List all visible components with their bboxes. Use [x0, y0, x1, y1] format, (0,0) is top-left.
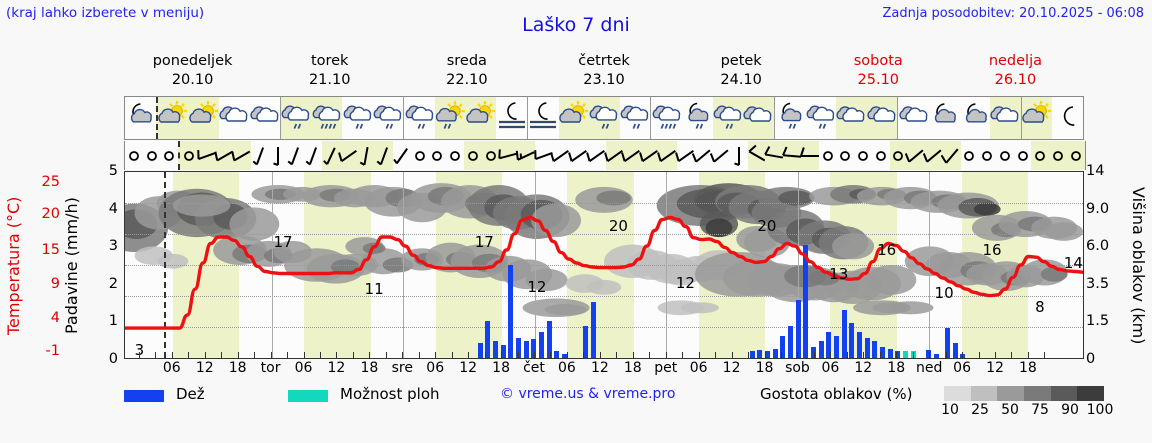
temperature-axis-title: Temperatura (°C) — [4, 176, 30, 356]
x-tickmark — [139, 352, 140, 359]
precip-tick-2: 3 — [109, 238, 118, 254]
weather-icon-cloudy — [219, 97, 250, 139]
x-tick-23: ned — [916, 360, 942, 376]
day-header-1: torek21.10 — [261, 52, 398, 92]
cloud-height-axis-ticks: 149.06.03.51.50 — [1086, 171, 1120, 359]
cloud-density-tick-1: 25 — [971, 402, 989, 418]
x-tickmark — [583, 352, 584, 359]
x-tickmark — [633, 352, 634, 359]
cloud-density-legend-title: Gostota oblakov (%) — [760, 385, 913, 403]
weather-icon-cloudy-light-rain — [342, 97, 373, 139]
cloud-density-swatch-3 — [1024, 386, 1051, 401]
temperature-value-label: 17 — [274, 233, 293, 251]
x-tickmark — [550, 352, 551, 359]
weather-icon-cloudy-light-rain — [403, 97, 435, 139]
weather-icon-cloudy-light-rain — [805, 97, 836, 139]
day-date: 26.10 — [947, 71, 1084, 90]
weather-icon-cloudy-rain — [650, 97, 682, 139]
weather-icon-night-light-rain — [682, 97, 713, 139]
temperature-value-label: 20 — [609, 217, 628, 235]
cloud-tick-0: 14 — [1086, 163, 1104, 179]
x-tickmark — [188, 352, 189, 359]
temp-tick-1: 20 — [42, 206, 60, 222]
x-tickmark — [1028, 352, 1029, 359]
temperature-value-label: 17 — [475, 233, 494, 251]
x-tickmark — [304, 352, 305, 359]
precip-tick-3: 2 — [109, 276, 118, 292]
x-tick-6: 18 — [360, 360, 378, 376]
x-tick-8: 06 — [426, 360, 444, 376]
weather-icon-cloudy — [867, 97, 898, 139]
showers-legend-swatch — [288, 390, 328, 402]
weather-icon-cloudy — [897, 97, 929, 139]
weather-icon-cloudy — [836, 97, 867, 139]
x-tickmark — [452, 352, 453, 359]
x-tickmark — [962, 352, 963, 359]
day-header-3: četrtek23.10 — [535, 52, 672, 92]
x-tickmark — [715, 352, 716, 359]
temperature-value-label: 16 — [877, 241, 896, 259]
x-tickmark — [402, 352, 403, 359]
x-tickmark — [732, 352, 733, 359]
day-name: sreda — [398, 52, 535, 71]
precipitation-axis-ticks: 543210 — [88, 171, 118, 359]
rain-legend-label: Dež — [176, 385, 205, 403]
day-header-5: sobota25.10 — [810, 52, 947, 92]
x-tick-11: čet — [523, 360, 545, 376]
forecast-plot: 31711171220122013161016814 — [124, 171, 1084, 359]
day-name: ponedeljek — [124, 52, 261, 71]
cloud-density-ramp-labels: 1025507590100 — [932, 402, 1122, 418]
x-tick-5: 12 — [328, 360, 346, 376]
weather-icon-cloudy-light-rain — [713, 97, 744, 139]
cloud-density-swatch-2 — [997, 386, 1024, 401]
cloud-density-swatch-0 — [944, 386, 971, 401]
x-tickmark — [320, 352, 321, 359]
x-tick-21: 12 — [854, 360, 872, 376]
x-tickmark — [254, 352, 255, 359]
day-header-0: ponedeljek20.10 — [124, 52, 261, 92]
cloud-tick-2: 6.0 — [1086, 238, 1109, 254]
cloud-tick-3: 3.5 — [1086, 276, 1109, 292]
day-date: 21.10 — [261, 71, 398, 90]
x-tickmark — [814, 352, 815, 359]
weather-icon-cloudy-rain — [312, 97, 343, 139]
day-date: 24.10 — [673, 71, 810, 90]
temperature-axis-ticks: 25201594-1 — [30, 171, 60, 359]
wind-barb-53 — [1067, 141, 1085, 170]
cloud-density-tick-5: 100 — [1087, 402, 1114, 418]
day-name: torek — [261, 52, 398, 71]
day-name: nedelja — [947, 52, 1084, 71]
x-tickmark — [386, 352, 387, 359]
x-tickmark — [830, 352, 831, 359]
x-tickmark — [666, 352, 667, 359]
x-tick-0: 06 — [163, 360, 181, 376]
cloud-density-swatch-1 — [971, 386, 998, 401]
weather-icon-night-light-rain — [774, 97, 806, 139]
x-tick-16: 06 — [690, 360, 708, 376]
weather-icon-cloudy — [743, 97, 774, 139]
x-tickmark — [682, 352, 683, 359]
x-tickmark — [221, 352, 222, 359]
rain-legend-swatch — [124, 390, 164, 402]
weather-icon-sunny-partly-cloudy — [559, 97, 590, 139]
temperature-value-label: 20 — [757, 217, 776, 235]
weather-icon-night-clear — [1052, 97, 1083, 139]
x-tick-19: sob — [785, 360, 810, 376]
weather-icon-sunny-partly-cloudy — [188, 97, 219, 139]
weather-icon-cloudy-light-rain — [373, 97, 404, 139]
x-tick-25: 12 — [986, 360, 1004, 376]
x-tickmark — [765, 352, 766, 359]
x-tickmark — [369, 352, 370, 359]
x-axis-labels: 061218tor061218sre061218čet061218pet0612… — [124, 360, 1084, 382]
x-tickmark — [797, 352, 798, 359]
day-header-4: petek24.10 — [673, 52, 810, 92]
x-tickmark — [435, 352, 436, 359]
wind-barb-2 — [160, 141, 178, 170]
precip-tick-1: 4 — [109, 201, 118, 217]
x-tickmark — [155, 352, 156, 359]
x-tickmark — [847, 352, 848, 359]
x-tick-14: 18 — [624, 360, 642, 376]
x-tickmark — [287, 352, 288, 359]
temp-tick-0: 25 — [42, 174, 60, 190]
x-axis-tickmarks — [124, 352, 1084, 359]
x-tick-12: 06 — [558, 360, 576, 376]
day-name: sobota — [810, 52, 947, 71]
cloud-density-tick-4: 90 — [1061, 402, 1079, 418]
weather-icon-sunny-light-rain — [435, 97, 466, 139]
x-tickmark — [567, 352, 568, 359]
weather-icon-night-fog — [496, 97, 527, 139]
weather-icon-sunny-partly-cloudy — [466, 97, 497, 139]
day-name: petek — [673, 52, 810, 71]
x-tick-17: 12 — [723, 360, 741, 376]
x-tick-3: tor — [261, 360, 281, 376]
x-tickmark — [336, 352, 337, 359]
day-header-2: sreda22.10 — [398, 52, 535, 92]
cloud-density-tick-3: 75 — [1031, 402, 1049, 418]
temperature-value-label: 13 — [829, 265, 848, 283]
temp-tick-5: -1 — [46, 343, 60, 359]
x-tickmark — [172, 352, 173, 359]
weather-icon-cloudy — [249, 97, 280, 139]
precip-tick-0: 5 — [109, 163, 118, 179]
weather-icon-strip — [124, 96, 1084, 140]
x-tickmark — [353, 352, 354, 359]
x-tickmark — [271, 352, 272, 359]
last-update-text: Zadnja posodobitev: 20.10.2025 - 06:08 — [882, 6, 1144, 21]
x-tick-24: 06 — [953, 360, 971, 376]
weather-icon-cloudy-light-rain — [620, 97, 651, 139]
temp-tick-4: 4 — [51, 310, 60, 326]
x-tick-20: 06 — [821, 360, 839, 376]
x-tickmark — [699, 352, 700, 359]
x-tickmark — [880, 352, 881, 359]
temp-tick-3: 9 — [51, 276, 60, 292]
weather-icon-night-cloudy — [125, 97, 156, 139]
x-tick-13: 12 — [591, 360, 609, 376]
temperature-value-label: 12 — [676, 274, 695, 292]
x-tick-2: 18 — [229, 360, 247, 376]
wind-barb-strip — [124, 141, 1086, 170]
precipitation-axis-title: Padavine (mm/h) — [62, 176, 88, 356]
temperature-value-label: 10 — [935, 284, 954, 302]
x-tickmark — [419, 352, 420, 359]
cloud-density-color-ramp — [944, 386, 1104, 401]
day-date: 25.10 — [810, 71, 947, 90]
x-tickmark — [748, 352, 749, 359]
x-tick-9: 12 — [459, 360, 477, 376]
chart-legend: Dež Možnost ploh © vreme.us & vreme.pro … — [124, 385, 1148, 419]
day-header-row: ponedeljek20.10torek21.10sreda22.10četrt… — [124, 52, 1084, 92]
x-tickmark — [649, 352, 650, 359]
x-tickmark — [863, 352, 864, 359]
x-tick-10: 18 — [492, 360, 510, 376]
x-tickmark — [485, 352, 486, 359]
cloud-density-tick-0: 10 — [941, 402, 959, 418]
weather-icon-night-cloudy — [929, 97, 960, 139]
x-tick-4: 06 — [295, 360, 313, 376]
x-tickmark — [929, 352, 930, 359]
x-tickmark — [205, 352, 206, 359]
x-tickmark — [1044, 352, 1045, 359]
copyright-link[interactable]: © vreme.us & vreme.pro — [500, 386, 675, 402]
day-date: 22.10 — [398, 71, 535, 90]
x-tickmark — [781, 352, 782, 359]
x-tickmark — [534, 352, 535, 359]
day-header-6: nedelja26.10 — [947, 52, 1084, 92]
cloud-density-swatch-5 — [1077, 386, 1104, 401]
x-tick-26: 18 — [1019, 360, 1037, 376]
temperature-labels: 31711171220122013161016814 — [125, 172, 1083, 358]
x-tick-1: 12 — [196, 360, 214, 376]
weather-icon-cloudy — [990, 97, 1021, 139]
day-name: četrtek — [535, 52, 672, 71]
temperature-value-label: 8 — [1035, 298, 1045, 316]
x-tickmark — [616, 352, 617, 359]
x-tickmark — [238, 352, 239, 359]
x-tick-7: sre — [392, 360, 413, 376]
cloud-density-tick-2: 50 — [1001, 402, 1019, 418]
temperature-value-label: 16 — [982, 241, 1001, 259]
day-date: 23.10 — [535, 71, 672, 90]
precip-tick-5: 0 — [109, 351, 118, 367]
cloud-tick-1: 9.0 — [1086, 201, 1109, 217]
weather-icon-cloudy-light-rain — [589, 97, 620, 139]
temperature-value-label: 12 — [527, 278, 546, 296]
x-tickmark — [896, 352, 897, 359]
weather-icon-cloudy-light-rain — [280, 97, 312, 139]
day-date: 20.10 — [124, 71, 261, 90]
showers-legend-label: Možnost ploh — [340, 385, 440, 403]
precip-tick-4: 1 — [109, 313, 118, 329]
weather-icon-sunny-partly-cloudy — [1021, 97, 1053, 139]
weather-icon-night-cloudy — [959, 97, 990, 139]
x-tickmark — [1011, 352, 1012, 359]
x-tick-18: 18 — [756, 360, 774, 376]
x-tickmark — [518, 352, 519, 359]
weather-icon-night-fog — [527, 97, 559, 139]
x-tickmark — [600, 352, 601, 359]
x-tickmark — [501, 352, 502, 359]
x-tick-15: pet — [654, 360, 677, 376]
x-tickmark — [946, 352, 947, 359]
x-tick-22: 18 — [887, 360, 905, 376]
cloud-tick-5: 0 — [1086, 351, 1095, 367]
temperature-value-label: 14 — [1064, 254, 1083, 272]
cloud-density-swatch-4 — [1051, 386, 1078, 401]
x-tickmark — [979, 352, 980, 359]
x-tickmark — [995, 352, 996, 359]
temperature-value-label: 11 — [365, 280, 384, 298]
cloud-tick-4: 1.5 — [1086, 313, 1109, 329]
x-tickmark — [913, 352, 914, 359]
cloud-height-axis-title: Višina oblakov (km) — [1120, 176, 1148, 356]
weather-icon-sunny-partly-cloudy — [156, 97, 189, 139]
x-tickmark — [468, 352, 469, 359]
temp-tick-2: 15 — [42, 242, 60, 258]
